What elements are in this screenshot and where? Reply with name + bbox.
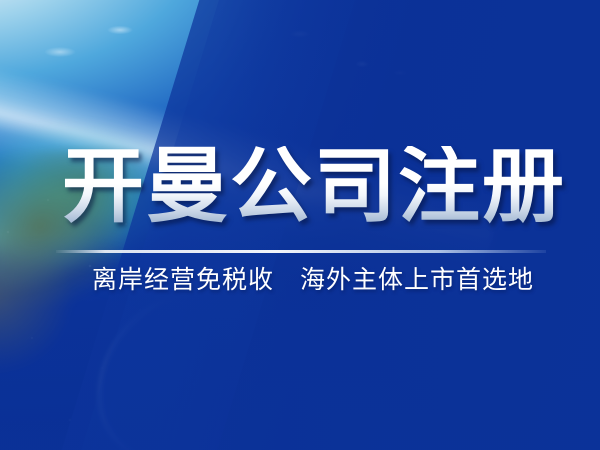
banner-subtitle: 离岸经营免税收 海外主体上市首选地 [92, 265, 534, 296]
headline-divider [56, 250, 546, 253]
banner-content: 开曼公司注册 离岸经营免税收 海外主体上市首选地 [0, 0, 600, 450]
banner-headline: 开曼公司注册 [62, 146, 566, 228]
promo-banner: 开曼公司注册 离岸经营免税收 海外主体上市首选地 [0, 0, 600, 450]
